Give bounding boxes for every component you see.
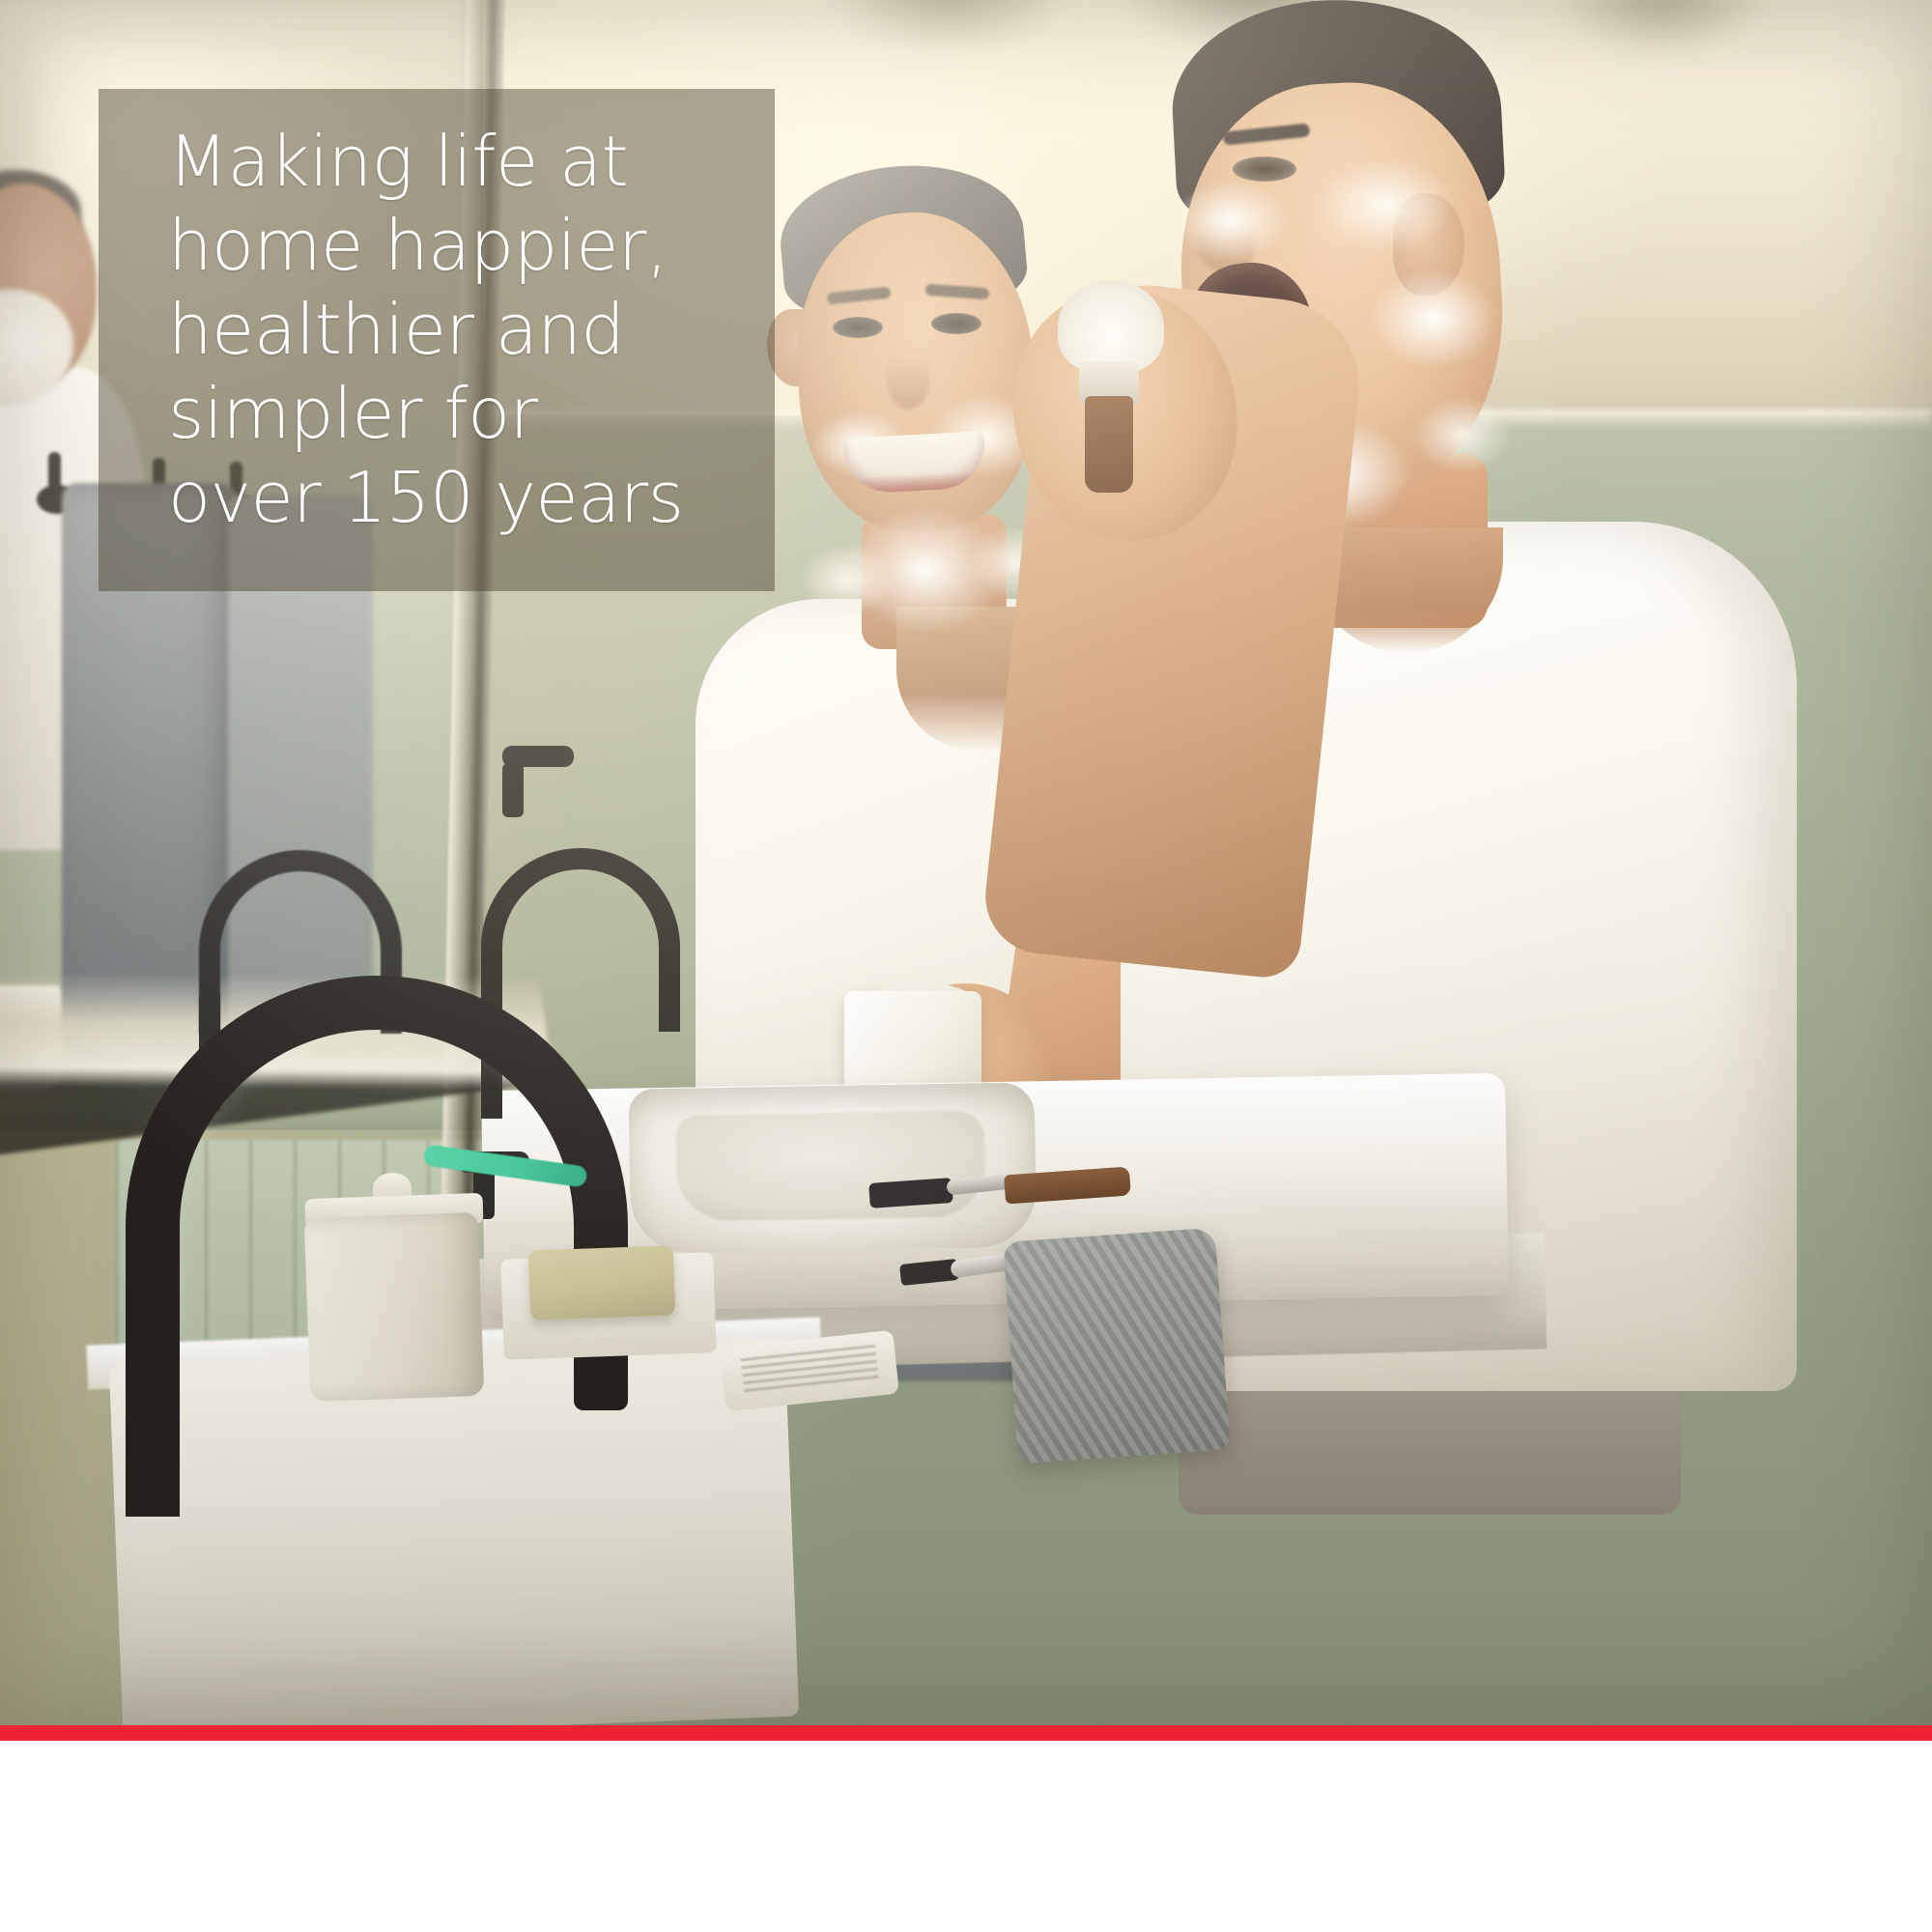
vanity-counter-left: [109, 1340, 799, 1725]
brand-accent-bar: [0, 1725, 1932, 1741]
folded-towel: [1003, 1228, 1231, 1464]
faucet-handle-stem-reflected: [502, 763, 524, 817]
hero-photo: Making life at home happier, healthier a…: [0, 0, 1932, 1725]
razor-wood-handle: [869, 1171, 1130, 1207]
soap-bar: [528, 1245, 675, 1320]
man-eye-right: [931, 313, 981, 334]
headline-text: Making life at home happier, healthier a…: [168, 120, 767, 540]
footer-bar: American Standard: [0, 1741, 1932, 1932]
man-eye-left: [833, 317, 883, 338]
shaving-brush: [1058, 280, 1164, 493]
ceramic-jar: [304, 1212, 485, 1402]
advertisement-root: Making life at home happier, healthier a…: [0, 0, 1932, 1932]
